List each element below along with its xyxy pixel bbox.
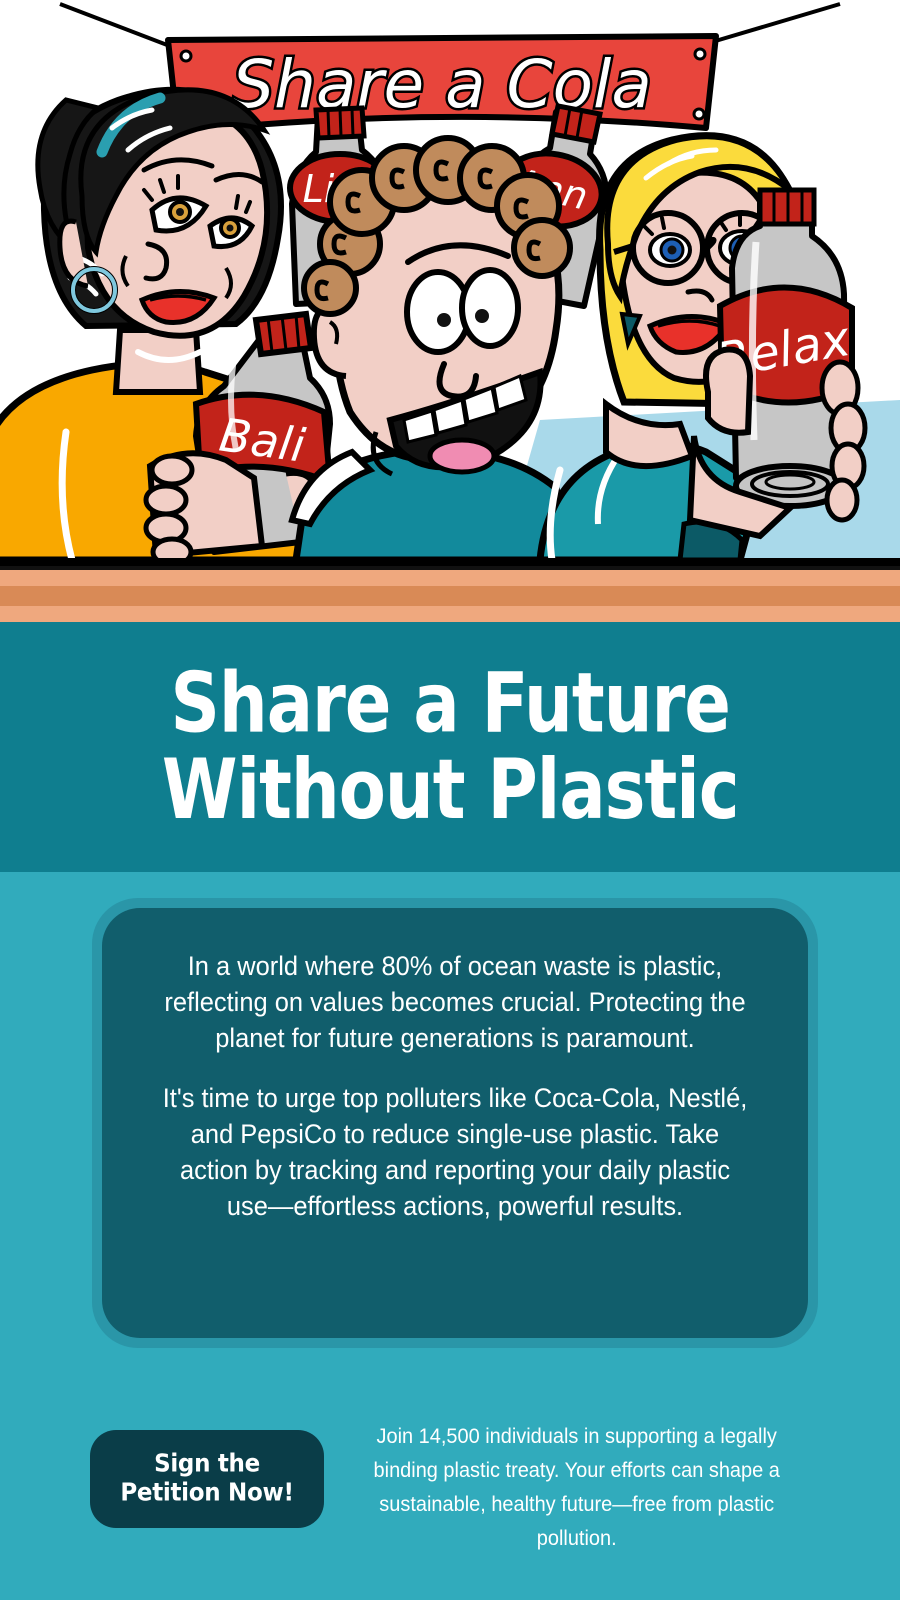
cta-note: Join 14,500 individuals in supporting a … — [362, 1420, 791, 1556]
eyes-center-man — [407, 270, 518, 352]
shelf-band-wood — [0, 586, 900, 606]
sign-petition-button-line-2: Petition Now! — [120, 1478, 293, 1510]
shelf-band-top — [0, 570, 900, 586]
character-center — [292, 138, 570, 560]
info-paragraph-2: It's time to urge top polluters like Coc… — [160, 1080, 749, 1224]
shelf-band-bottom — [0, 606, 900, 622]
page-title: Share a Future Without Plastic — [162, 661, 739, 833]
page-title-line-2: Without Plastic — [162, 747, 739, 833]
sign-petition-button[interactable]: Sign the Petition Now! — [90, 1430, 324, 1528]
cta-section: Sign the Petition Now! Join 14,500 indiv… — [0, 1400, 900, 1560]
headline-section: Share a Future Without Plastic — [0, 622, 900, 872]
info-card: In a world where 80% of ocean waste is p… — [102, 908, 808, 1338]
page-title-line-1: Share a Future — [162, 661, 739, 747]
info-paragraph-1: In a world where 80% of ocean waste is p… — [160, 948, 749, 1056]
sign-petition-button-line-1: Sign the — [154, 1449, 260, 1481]
hero-illustration: Share a Cola — [0, 0, 900, 568]
